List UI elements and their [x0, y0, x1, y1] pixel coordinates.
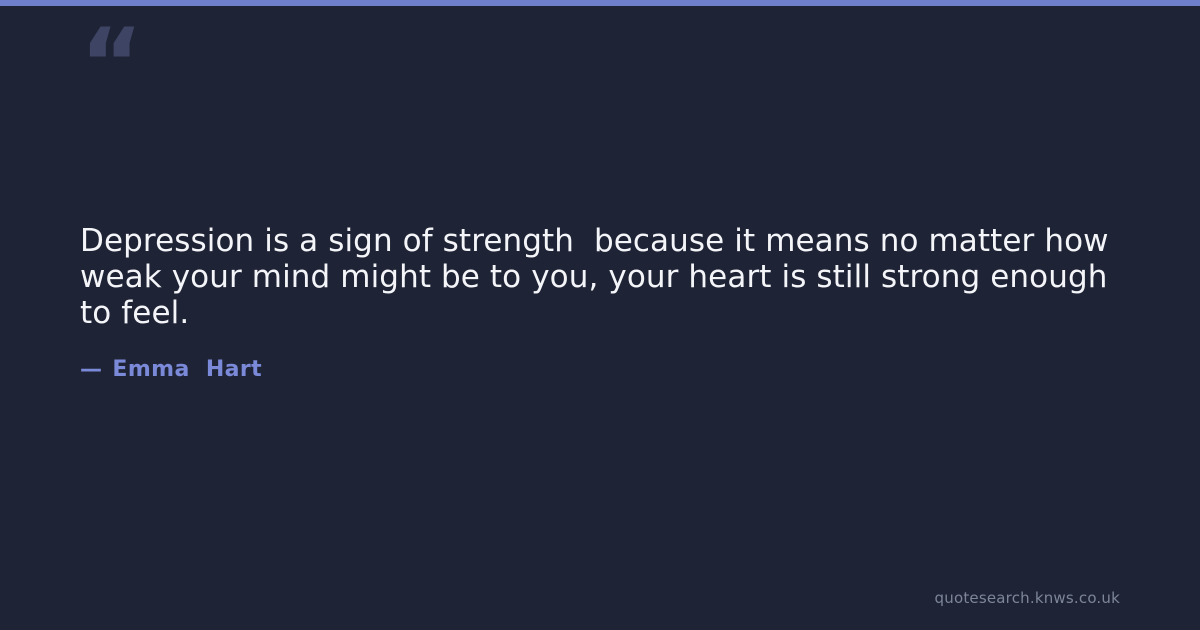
quote-text: Depression is a sign of strength because… [80, 223, 1110, 331]
attribution-dash: — [80, 355, 102, 385]
open-quote-icon: “ [80, 16, 200, 106]
author-name: Emma Hart [112, 355, 262, 385]
source-url: quotesearch.knws.co.uk [935, 588, 1120, 608]
top-accent-bar [0, 0, 1200, 6]
quote-attribution: — Emma Hart [80, 355, 262, 385]
quote-card: “ Depression is a sign of strength becau… [0, 0, 1200, 630]
